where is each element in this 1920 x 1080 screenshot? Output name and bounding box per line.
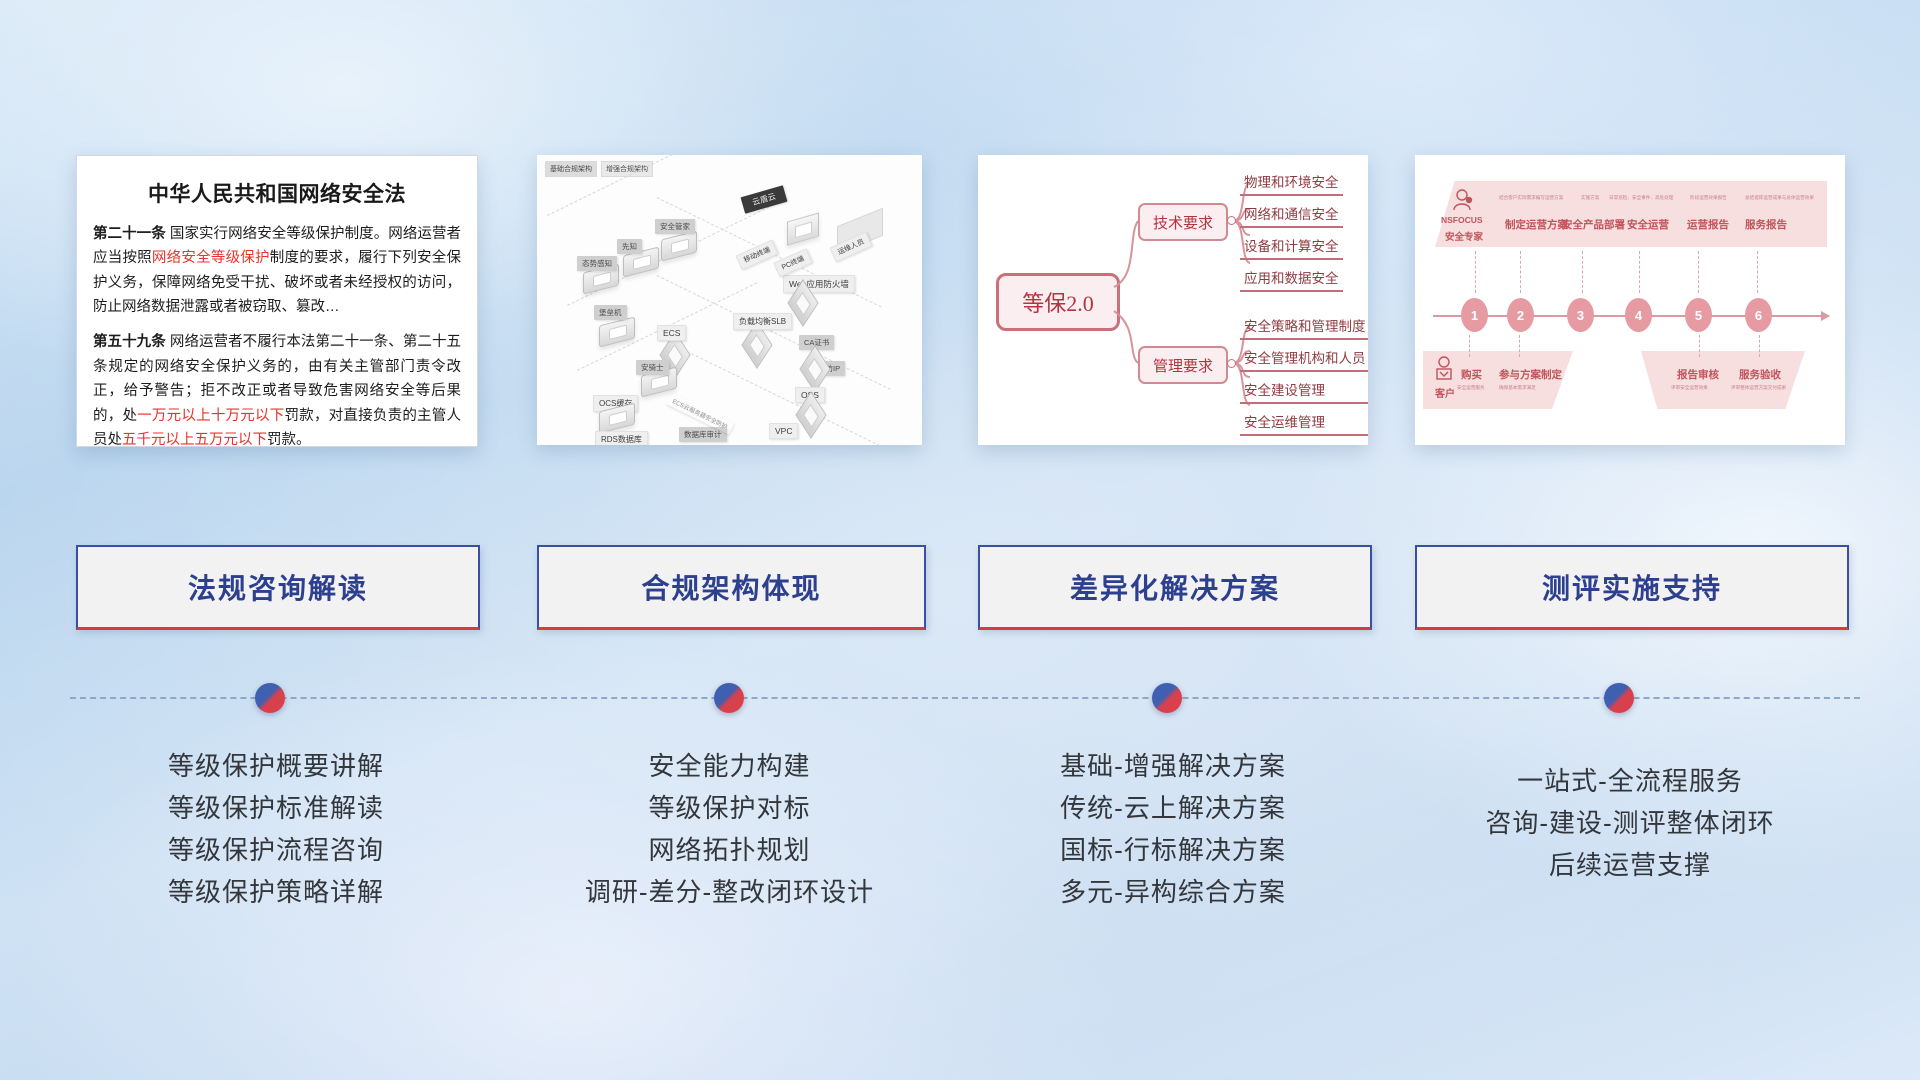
detail-list-item: 基础-增强解决方案: [978, 745, 1368, 787]
detail-list-item: 多元-异构综合方案: [978, 871, 1368, 913]
top-step-sub: 结合客户实际需求编写运营方案: [1499, 195, 1563, 201]
article-59-fine-person: 五千元以上五万元以下: [122, 432, 267, 447]
timeline-marker-3[interactable]: [1152, 683, 1182, 713]
top-step-sub: 实施方案: [1581, 195, 1599, 201]
timeline-node: 4: [1625, 298, 1652, 332]
category-header-solution[interactable]: 差异化解决方案: [978, 545, 1372, 630]
top-step-name: 运营报告: [1687, 217, 1729, 232]
detail-list-item: 一站式-全流程服务: [1415, 760, 1845, 802]
card-compliance-architecture: 基础合规架构 增强合规架构 云盾云 安全管家: [537, 155, 922, 445]
bottom-step-sub: 确保基本需求满足: [1499, 385, 1536, 391]
bottom-step-sub: 评审安全运营效果: [1671, 385, 1708, 391]
node-shape-bastion-host: [599, 317, 635, 348]
detail-list-architecture: 安全能力构建 等级保护对标 网络拓扑规划 调研-差分-整改闭环设计: [537, 745, 922, 913]
card-mindmap-dengbao: 等保2.0 技术要求 物理和环境安全 网络和通信: [978, 155, 1368, 445]
slide-stage: 中华人民共和国网络安全法 第二十一条 国家实行网络安全等级保护制度。网络运营者应…: [0, 0, 1920, 1080]
detail-list-item: 网络拓扑规划: [537, 829, 922, 871]
customer-label: 客户: [1435, 385, 1455, 400]
top-step-name: 制定运营方案: [1505, 217, 1568, 232]
node-label-slb: 负载均衡SLB: [733, 313, 792, 330]
timeline-marker-1[interactable]: [255, 683, 285, 713]
mindmap-collapse-dot-technical[interactable]: [1227, 216, 1236, 225]
timeline-tick: [1520, 251, 1521, 293]
node-label-vpc: VPC: [769, 423, 798, 439]
article-59-end: 罚款。: [267, 432, 311, 447]
timeline-tick: [1699, 335, 1700, 357]
mindmap-diagram: 等保2.0 技术要求 物理和环境安全 网络和通信: [978, 155, 1368, 445]
expert-title: NSFOCUS: [1441, 215, 1483, 225]
timeline-marker-2[interactable]: [714, 683, 744, 713]
card-cybersecurity-law: 中华人民共和国网络安全法 第二十一条 国家实行网络安全等级保护制度。网络运营者应…: [76, 155, 478, 447]
mindmap-leaf: 安全运维管理: [1240, 411, 1368, 436]
top-step-name: 服务报告: [1745, 217, 1787, 232]
timeline-tick: [1757, 251, 1758, 293]
bottom-step-sub: 安全运营服务: [1457, 385, 1485, 391]
node-label-mobile-terminal: 移动终端: [735, 240, 778, 271]
node-label-situational-awareness: 态势感知: [577, 256, 617, 271]
detail-list-item: 调研-差分-整改闭环设计: [537, 871, 922, 913]
category-header-label: 差异化解决方案: [1070, 567, 1280, 607]
detail-list-item: 等级保护概要讲解: [76, 745, 476, 787]
node-shape-anti-ddos-ip: [799, 345, 830, 393]
detail-list-item: 等级保护标准解读: [76, 787, 476, 829]
expert-subtitle: 安全专家: [1445, 229, 1483, 243]
mindmap-leaf: 网络和通信安全: [1240, 203, 1343, 228]
timeline-tick: [1759, 335, 1760, 357]
detail-list-item: 等级保护策略详解: [76, 871, 476, 913]
law-article-21: 第二十一条 国家实行网络安全等级保护制度。网络运营者应当按照网络安全等级保护制度…: [93, 222, 461, 319]
mindmap-leaf: 应用和数据安全: [1240, 267, 1343, 292]
detail-list-item: 后续运营支撑: [1415, 844, 1845, 886]
detail-list-item: 咨询-建设-测评整体闭环: [1415, 802, 1845, 844]
mindmap-leaf: 安全策略和管理制度: [1240, 315, 1368, 340]
top-step-sub: 阶段运营效果报告: [1690, 195, 1727, 201]
category-header-assessment[interactable]: 测评实施支持: [1415, 545, 1849, 630]
timeline-marker-4[interactable]: [1604, 683, 1634, 713]
timeline-node: 3: [1567, 298, 1594, 332]
detail-list-item: 安全能力构建: [537, 745, 922, 787]
article-59-fine-company: 一万元以上十万元以下: [137, 408, 284, 424]
illustration-card-row: 中华人民共和国网络安全法 第二十一条 国家实行网络安全等级保护制度。网络运营者应…: [0, 0, 1920, 440]
node-label-xianzhi: 先知: [617, 239, 642, 254]
node-label-ecs: ECS: [657, 325, 686, 341]
bottom-step-name: 参与方案制定: [1499, 367, 1562, 382]
top-step-name: 安全产品部署: [1562, 217, 1625, 232]
nsfocus-timeline-graphic: NSFOCUS 安全专家 结合客户实际需求编写运营方案 制定运营方案 实施方案 …: [1415, 155, 1845, 445]
mindmap-collapse-dot-management[interactable]: [1227, 359, 1236, 368]
timeline-marker-fill: [714, 683, 744, 713]
category-header-label: 合规架构体现: [641, 567, 821, 607]
node-label-anqishi: 安骑士: [636, 360, 669, 375]
node-label-waf: Web应用防火墙: [783, 275, 855, 293]
timeline-tick: [1469, 335, 1470, 357]
timeline-tick: [1698, 251, 1699, 293]
detail-list-item: 国标-行标解决方案: [978, 829, 1368, 871]
detail-list-item: 等级保护对标: [537, 787, 922, 829]
bottom-step-sub: 评审整体运营方案交付成果: [1731, 385, 1786, 391]
mindmap-leaf: 安全建设管理: [1240, 379, 1368, 404]
timeline-marker-fill: [1604, 683, 1634, 713]
timeline-marker-fill: [1152, 683, 1182, 713]
mindmap-leaves-management: 安全策略和管理制度 安全管理机构和人员 安全建设管理 安全运维管理: [1240, 315, 1368, 443]
detail-list-item: 传统-云上解决方案: [978, 787, 1368, 829]
law-title: 中华人民共和国网络安全法: [93, 178, 461, 208]
top-step-name: 安全运营: [1627, 217, 1669, 232]
bottom-step-name: 购买: [1461, 367, 1482, 382]
category-header-regulation[interactable]: 法规咨询解读: [76, 545, 480, 630]
mindmap-leaf: 安全管理机构和人员: [1240, 347, 1368, 372]
detail-list-solution: 基础-增强解决方案 传统-云上解决方案 国标-行标解决方案 多元-异构综合方案: [978, 745, 1368, 913]
category-header-label: 法规咨询解读: [188, 567, 368, 607]
timeline-node: 1: [1461, 298, 1488, 332]
node-label-bastion-host: 堡垒机: [594, 305, 627, 320]
node-shape-pc-terminal: [787, 212, 819, 245]
bottom-step-name: 服务验收: [1739, 367, 1781, 382]
node-label-safety-butler: 安全管家: [655, 219, 695, 234]
detail-list-regulation: 等级保护概要讲解 等级保护标准解读 等级保护流程咨询 等级保护策略详解: [76, 745, 476, 913]
architecture-diagram: 基础合规架构 增强合规架构 云盾云 安全管家: [537, 155, 922, 445]
timeline-tick: [1475, 251, 1476, 293]
mindmap-leaves-technical: 物理和环境安全 网络和通信安全 设备和计算安全 应用和数据安全: [1240, 171, 1343, 299]
timeline-node: 2: [1507, 298, 1534, 332]
timeline-marker-fill: [255, 683, 285, 713]
article-59-label: 第五十九条: [93, 334, 166, 350]
timeline-node: 5: [1685, 298, 1712, 332]
mindmap-branch-technical: 技术要求: [1138, 203, 1228, 241]
timeline-tick: [1639, 251, 1640, 293]
mindmap-leaf: 物理和环境安全: [1240, 171, 1343, 196]
customer-avatar-icon: [1433, 355, 1455, 381]
category-header-architecture[interactable]: 合规架构体现: [537, 545, 926, 630]
mindmap-leaf: 设备和计算安全: [1240, 235, 1343, 260]
node-shape-safety-butler: [661, 231, 697, 262]
card-service-timeline: NSFOCUS 安全专家 结合客户实际需求编写运营方案 制定运营方案 实施方案 …: [1415, 155, 1845, 445]
detail-list-item: 等级保护流程咨询: [76, 829, 476, 871]
article-21-highlight: 网络安全等级保护: [152, 250, 270, 266]
node-label-rds: RDS数据库: [595, 431, 648, 445]
mindmap-branch-management: 管理要求: [1138, 346, 1228, 384]
timeline-tick: [1582, 251, 1583, 293]
law-document: 中华人民共和国网络安全法 第二十一条 国家实行网络安全等级保护制度。网络运营者应…: [77, 156, 477, 446]
article-21-label: 第二十一条: [93, 226, 166, 242]
expert-avatar-icon: [1449, 187, 1475, 213]
node-label-pc-terminal: PC终端: [773, 248, 812, 277]
top-step-sub: 总结提炼运营成果与总体运营效果: [1745, 195, 1814, 201]
detail-list-assessment: 一站式-全流程服务 咨询-建设-测评整体闭环 后续运营支撑: [1415, 760, 1845, 886]
timeline-dashed-line: [70, 697, 1860, 701]
timeline-tick: [1519, 335, 1520, 357]
top-step-sub: 日常巡检、安全事件、高危处理: [1609, 195, 1673, 201]
timeline-node: 6: [1745, 298, 1772, 332]
bottom-step-name: 报告审核: [1677, 367, 1719, 382]
category-header-label: 测评实施支持: [1542, 567, 1722, 607]
law-article-59: 第五十九条 网络运营者不履行本法第二十一条、第二十五条规定的网络安全保护义务的，…: [93, 330, 461, 447]
isometric-canvas: 云盾云 安全管家 先知 态势感知 堡垒机 ECS 安骑士: [537, 155, 922, 445]
timeline-top-band: [1435, 181, 1827, 247]
